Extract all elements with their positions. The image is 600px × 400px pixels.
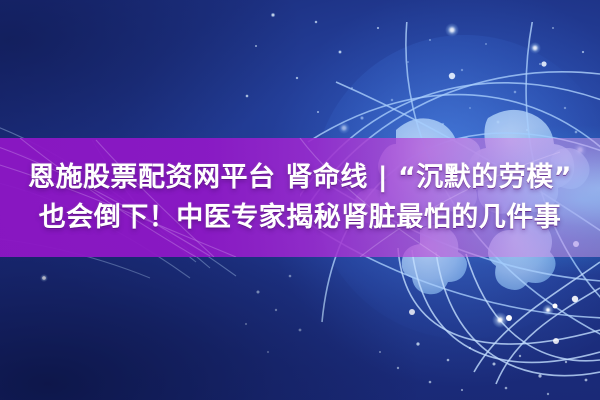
headline: 恩施股票配资网平台 肾命线 | “沉默的劳模” 也会倒下！中医专家揭秘肾脏最怕的… <box>0 138 600 257</box>
banner: 恩施股票配资网平台 肾命线 | “沉默的劳模” 也会倒下！中医专家揭秘肾脏最怕的… <box>0 0 600 400</box>
headline-line-1: 恩施股票配资网平台 肾命线 | “沉默的劳模” <box>28 159 572 197</box>
headline-line-2: 也会倒下！中医专家揭秘肾脏最怕的几件事 <box>39 199 562 237</box>
